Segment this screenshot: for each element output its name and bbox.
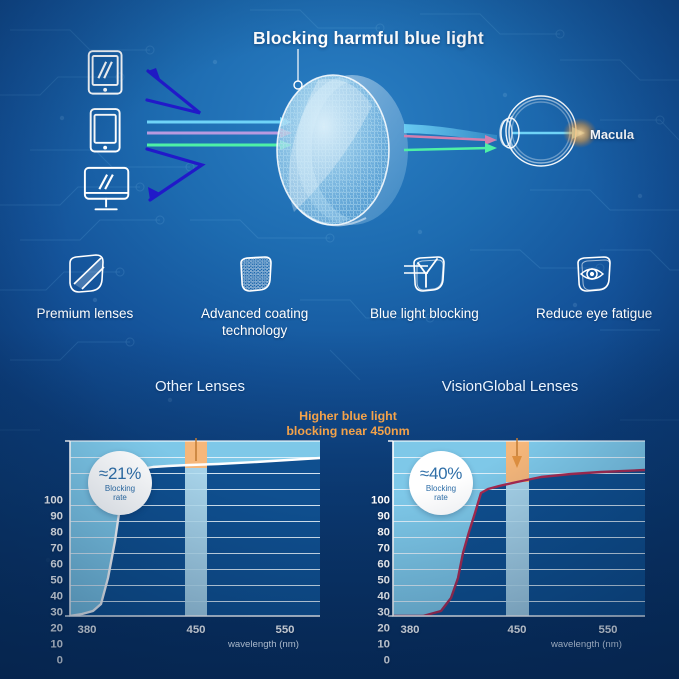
blue-block-icon <box>340 252 510 296</box>
chart-visionglobal-lenses: 100 90 80 70 60 50 40 30 20 10 0 380 450… <box>345 438 665 658</box>
xaxis-caption-right: wavelength (nm) <box>551 639 622 650</box>
ytick-20: 20 <box>354 623 390 634</box>
feature-item-reduce-eye-fatigue[interactable]: Reduce eye fatigue <box>509 252 679 352</box>
lens-shine-icon <box>0 252 170 296</box>
annotation-higher-blocking: Higher blue light blocking near 450nm <box>279 409 417 438</box>
feature-label: Premium lenses <box>0 305 170 322</box>
chart-title-right: VisionGlobal Lenses <box>410 378 610 395</box>
feature-list: Premium lenses <box>0 252 679 352</box>
xtick-550: 550 <box>275 624 294 636</box>
feature-label: Advanced coating technology <box>170 305 340 340</box>
ytick-30: 30 <box>354 607 390 618</box>
blue-light-lens <box>270 70 408 232</box>
xtick-450: 450 <box>186 624 205 636</box>
lens-callout <box>294 49 302 89</box>
hero-section: Blocking harmful blue light Macula <box>0 0 679 245</box>
blocking-rate-value: ≈40% <box>420 464 462 484</box>
annotation-line-1: Higher blue light <box>279 409 417 424</box>
infographic-root: Blocking harmful blue light Macula Premi… <box>0 0 679 679</box>
ytick-0: 0 <box>354 655 390 666</box>
feature-item-advanced-coating[interactable]: Advanced coating technology <box>170 252 340 352</box>
coating-mesh-icon <box>170 252 340 296</box>
ytick-70: 70 <box>354 543 390 554</box>
chart-other-lenses: 100 90 80 70 60 50 40 30 20 10 0 380 450… <box>25 438 335 658</box>
xtick-380: 380 <box>400 624 419 636</box>
blocking-rate-caption-1: Blocking <box>105 484 135 493</box>
annotation-line-2: blocking near 450nm <box>279 424 417 439</box>
ytick-0: 0 <box>27 655 63 666</box>
ytick-90: 90 <box>27 511 63 522</box>
blocking-rate-caption-2: rate <box>113 493 127 502</box>
feature-label: Reduce eye fatigue <box>509 305 679 322</box>
xtick-380: 380 <box>77 624 96 636</box>
incoming-light-rays <box>147 117 292 150</box>
ytick-20: 20 <box>27 623 63 634</box>
ytick-60: 60 <box>27 559 63 570</box>
filtered-beams <box>404 124 585 153</box>
xtick-450: 450 <box>507 624 526 636</box>
ytick-50: 50 <box>27 575 63 586</box>
ytick-70: 70 <box>27 543 63 554</box>
blocking-rate-caption-2: rate <box>434 493 448 502</box>
ytick-50: 50 <box>354 575 390 586</box>
feature-label: Blue light blocking <box>340 305 510 322</box>
xtick-550: 550 <box>598 624 617 636</box>
ytick-100: 100 <box>354 495 390 506</box>
blocking-rate-value: ≈21% <box>99 464 141 484</box>
ytick-10: 10 <box>354 639 390 650</box>
feature-item-blue-light-blocking[interactable]: Blue light blocking <box>340 252 510 352</box>
blocking-rate-caption-1: Blocking <box>426 484 456 493</box>
page-title: Blocking harmful blue light <box>253 28 484 49</box>
macula-label: Macula <box>590 127 634 142</box>
feature-item-premium-lenses[interactable]: Premium lenses <box>0 252 170 352</box>
eye-icon <box>509 252 679 296</box>
ytick-80: 80 <box>27 527 63 538</box>
ytick-80: 80 <box>354 527 390 538</box>
ytick-90: 90 <box>354 511 390 522</box>
charts-section: Other Lenses VisionGlobal Lenses Higher … <box>0 378 679 679</box>
chart-title-left: Other Lenses <box>110 378 290 395</box>
blocked-blue-rays <box>147 71 202 200</box>
ytick-40: 40 <box>27 591 63 602</box>
xaxis-caption-left: wavelength (nm) <box>228 639 299 650</box>
ytick-30: 30 <box>27 607 63 618</box>
ytick-60: 60 <box>354 559 390 570</box>
ytick-40: 40 <box>354 591 390 602</box>
ytick-100: 100 <box>27 495 63 506</box>
blocking-rate-badge-right: ≈40% Blocking rate <box>409 451 473 515</box>
ytick-10: 10 <box>27 639 63 650</box>
blocking-rate-badge-left: ≈21% Blocking rate <box>88 451 152 515</box>
